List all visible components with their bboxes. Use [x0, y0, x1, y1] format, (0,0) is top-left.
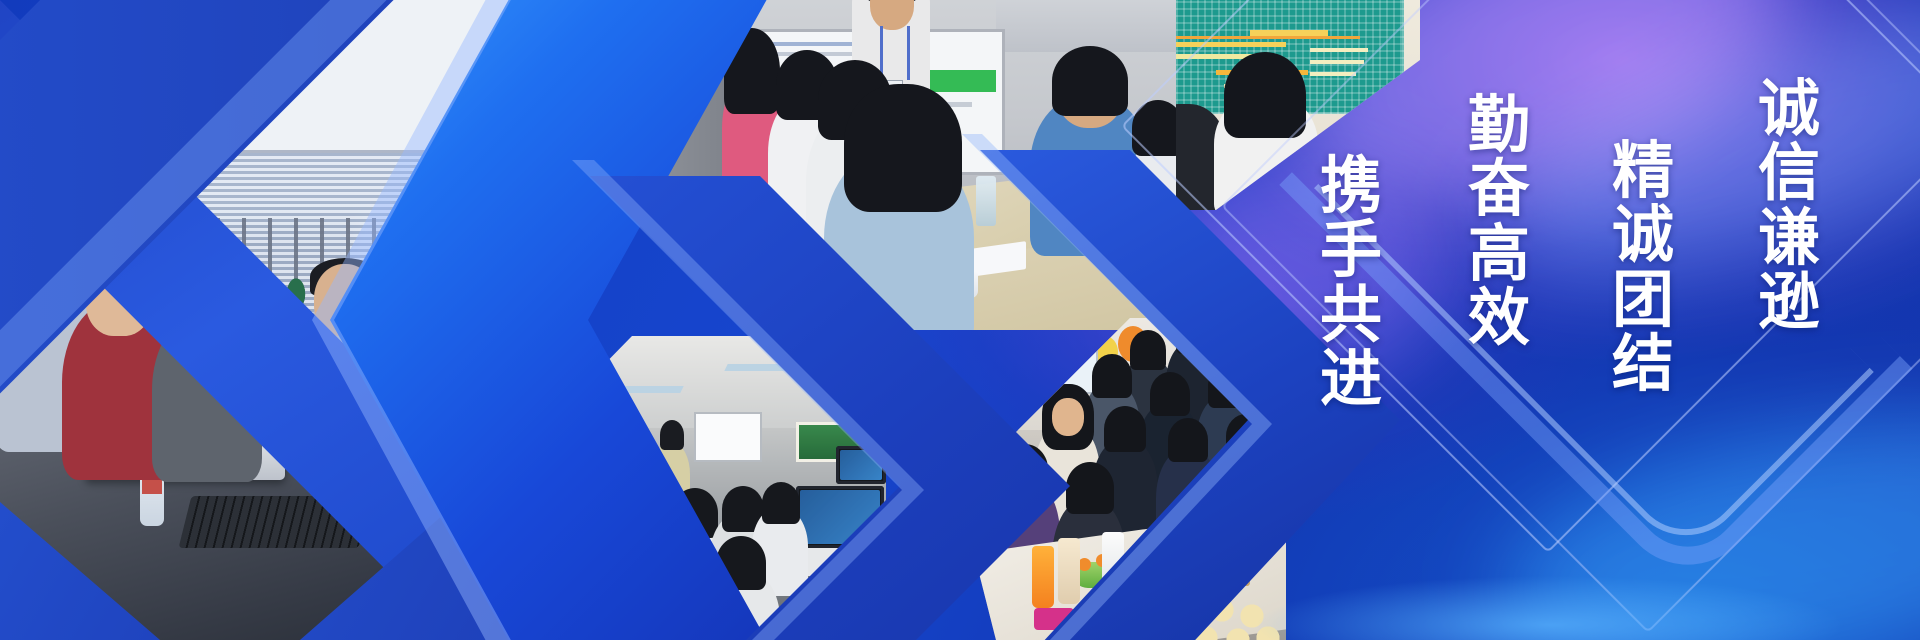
slogan-char: 结 [1612, 333, 1674, 397]
slogan-char: 谦 [1758, 207, 1820, 271]
slogan-char: 诚 [1758, 78, 1820, 142]
slogan-block: 诚 信 谦 逊 精 诚 团 结 勤 奋 高 效 携 手 共 进 [1180, 0, 1920, 640]
slogan-column-xieshougongjin: 携 手 共 进 [1320, 155, 1382, 413]
slogan-column-chengxinqianxun: 诚 信 谦 逊 [1758, 78, 1820, 336]
attendee-hair [1052, 46, 1128, 116]
drink-bottle [1032, 546, 1054, 608]
slogan-char: 勤 [1468, 94, 1530, 158]
slogan-char: 诚 [1612, 204, 1674, 268]
slogan-char: 奋 [1468, 158, 1530, 222]
presenter-lanyard [880, 26, 910, 80]
slogan-char: 共 [1320, 284, 1382, 348]
water-glass [976, 176, 996, 226]
slogan-char: 进 [1320, 348, 1382, 412]
slogan-char: 效 [1468, 287, 1530, 351]
slogan-char: 携 [1320, 155, 1382, 219]
slogan-char: 团 [1612, 269, 1674, 333]
slogan-column-jingchengtuanjie: 精 诚 团 结 [1612, 140, 1674, 398]
corporate-culture-banner: 诚 信 谦 逊 精 诚 团 结 勤 奋 高 效 携 手 共 进 [0, 0, 1920, 640]
drink-bottle [1058, 538, 1080, 604]
slogan-column-qinfengaoxiao: 勤 奋 高 效 [1468, 94, 1530, 352]
slogan-char: 高 [1468, 223, 1530, 287]
slogan-char: 精 [1612, 140, 1674, 204]
slogan-char: 信 [1758, 142, 1820, 206]
slogan-char: 手 [1320, 219, 1382, 283]
slogan-char: 逊 [1758, 271, 1820, 335]
whiteboard [696, 414, 760, 460]
attendee-hair [844, 84, 962, 212]
back-wall [996, 0, 1176, 52]
